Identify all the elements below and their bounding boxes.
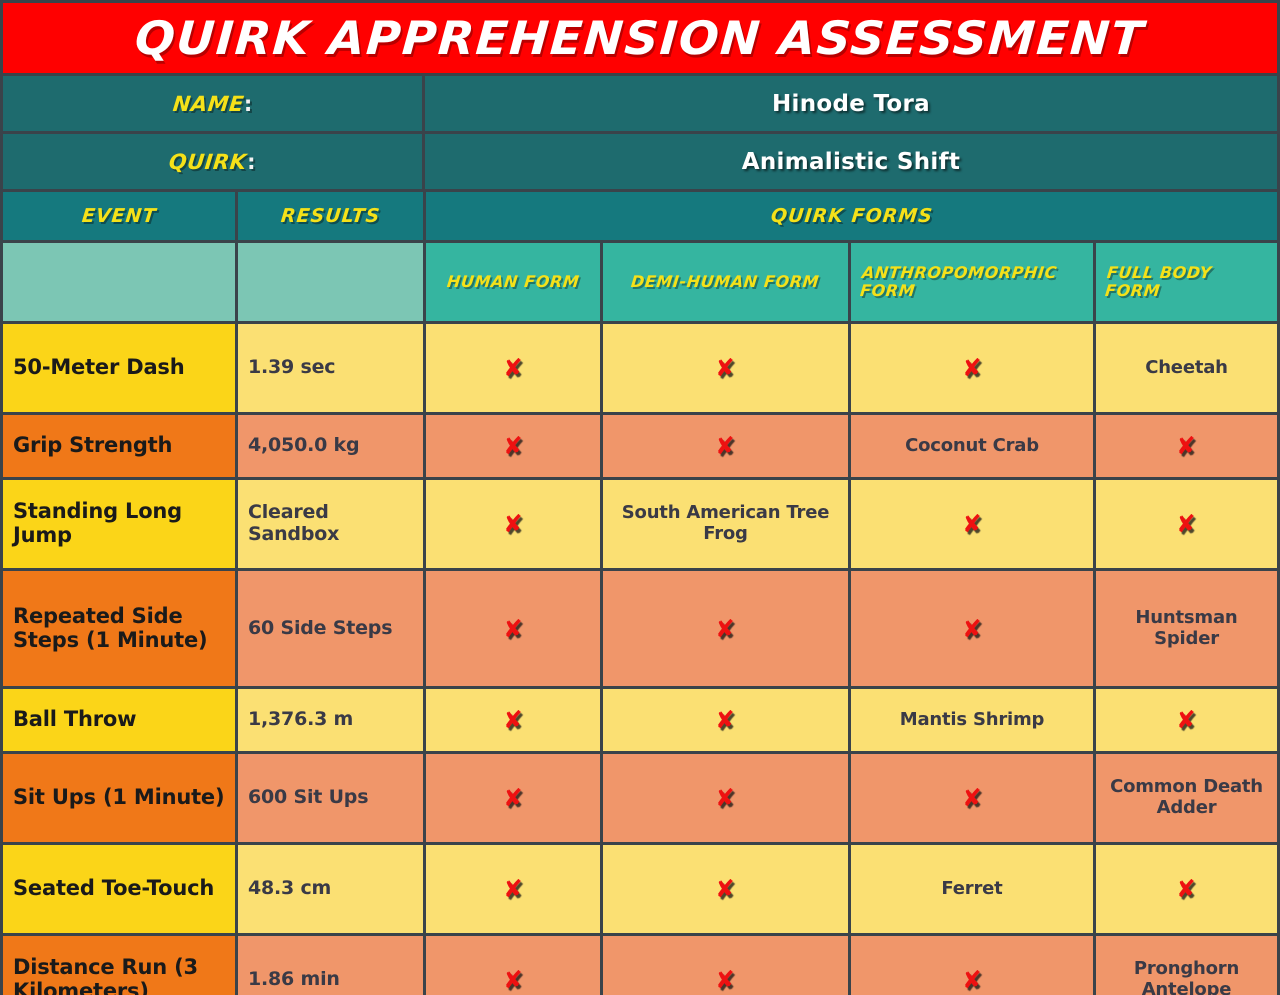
form-cell: ✘ bbox=[426, 689, 600, 751]
cross-icon: ✘ bbox=[715, 433, 736, 458]
form-cell: ✘ bbox=[1096, 480, 1277, 568]
header-event-cell: EVENT bbox=[3, 192, 235, 240]
form-animal-label: Coconut Crab bbox=[861, 436, 1083, 457]
event-cell: Seated Toe-Touch bbox=[3, 845, 235, 933]
event-cell: 50-Meter Dash bbox=[3, 324, 235, 412]
form-cell: ✘ bbox=[851, 754, 1093, 842]
event-label: Seated Toe-Touch bbox=[13, 877, 214, 901]
form-animal-label: Ferret bbox=[861, 879, 1083, 900]
cross-icon: ✘ bbox=[715, 355, 736, 380]
event-label: Ball Throw bbox=[13, 708, 136, 732]
quirk-label-cell: QUIRK: bbox=[3, 134, 422, 189]
quirk-colon: : bbox=[247, 150, 255, 174]
form-cell: Pronghorn Antelope bbox=[1096, 936, 1277, 995]
subheader-blank-results bbox=[238, 243, 423, 321]
result-value: 1.39 sec bbox=[248, 357, 335, 379]
form-cell: Common Death Adder bbox=[1096, 754, 1277, 842]
cross-icon: ✘ bbox=[715, 785, 736, 810]
form-cell: ✘ bbox=[1096, 415, 1277, 477]
name-label-cell: NAME: bbox=[3, 76, 422, 131]
result-value: 1,376.3 m bbox=[248, 709, 353, 731]
name-label: NAME bbox=[171, 92, 245, 116]
header-results: RESULTS bbox=[280, 205, 382, 227]
form-cell: ✘ bbox=[426, 571, 600, 686]
result-cell: 600 Sit Ups bbox=[238, 754, 423, 842]
name-row: NAME: Hinode Tora bbox=[3, 76, 1277, 131]
form-cell: ✘ bbox=[603, 415, 848, 477]
form-cell: ✘ bbox=[603, 845, 848, 933]
form-cell: ✘ bbox=[426, 754, 600, 842]
form-cell: ✘ bbox=[851, 324, 1093, 412]
subheader-full-body-form-label: FULL BODY FORM bbox=[1104, 264, 1269, 301]
cross-icon: ✘ bbox=[502, 616, 523, 641]
form-animal-label: Pronghorn Antelope bbox=[1106, 959, 1267, 995]
form-cell: Ferret bbox=[851, 845, 1093, 933]
form-cell: ✘ bbox=[603, 571, 848, 686]
header-quirk-forms: QUIRK FORMS bbox=[769, 205, 933, 227]
form-cell: ✘ bbox=[426, 936, 600, 995]
form-cell: Cheetah bbox=[1096, 324, 1277, 412]
table-row: Sit Ups (1 Minute)600 Sit Ups✘✘✘Common D… bbox=[3, 754, 1277, 842]
assessment-table: NAME: Hinode Tora QUIRK: Animalistic Shi… bbox=[3, 73, 1277, 995]
form-animal-label: Mantis Shrimp bbox=[861, 710, 1083, 731]
cross-icon: ✘ bbox=[715, 876, 736, 901]
event-label: Standing Long Jump bbox=[13, 500, 225, 547]
cross-icon: ✘ bbox=[502, 876, 523, 901]
table-row: Distance Run (3 Kilometers)1.86 min✘✘✘Pr… bbox=[3, 936, 1277, 995]
cross-icon: ✘ bbox=[961, 785, 982, 810]
name-value-cell: Hinode Tora bbox=[425, 76, 1277, 131]
result-value: 4,050.0 kg bbox=[248, 435, 359, 457]
cross-icon: ✘ bbox=[1176, 876, 1197, 901]
result-value: 1.86 min bbox=[248, 969, 340, 991]
form-cell: ✘ bbox=[603, 936, 848, 995]
name-colon: : bbox=[244, 92, 252, 116]
result-cell: 1,376.3 m bbox=[238, 689, 423, 751]
cross-icon: ✘ bbox=[502, 433, 523, 458]
form-cell: ✘ bbox=[426, 845, 600, 933]
cross-icon: ✘ bbox=[961, 355, 982, 380]
result-cell: 60 Side Steps bbox=[238, 571, 423, 686]
subheader-demi-human-form-label: DEMI-HUMAN FORM bbox=[630, 273, 820, 291]
result-cell: Cleared Sandbox bbox=[238, 480, 423, 568]
form-animal-label: Huntsman Spider bbox=[1106, 608, 1267, 649]
event-label: Repeated Side Steps (1 Minute) bbox=[13, 605, 225, 652]
cross-icon: ✘ bbox=[502, 785, 523, 810]
table-row: Standing Long JumpCleared Sandbox✘South … bbox=[3, 480, 1277, 568]
cross-icon: ✘ bbox=[1176, 433, 1197, 458]
form-animal-label: Cheetah bbox=[1106, 358, 1267, 379]
form-cell: South American Tree Frog bbox=[603, 480, 848, 568]
cross-icon: ✘ bbox=[1176, 707, 1197, 732]
header-quirk-forms-cell: QUIRK FORMS bbox=[426, 192, 1277, 240]
form-subheader-row: HUMAN FORM DEMI-HUMAN FORM ANTHROPOMORPH… bbox=[3, 243, 1277, 321]
cross-icon: ✘ bbox=[961, 616, 982, 641]
table-row: Seated Toe-Touch48.3 cm✘✘Ferret✘ bbox=[3, 845, 1277, 933]
result-value: 48.3 cm bbox=[248, 878, 331, 900]
form-cell: Coconut Crab bbox=[851, 415, 1093, 477]
subheader-anthropomorphic-form-label: ANTHROPOMORPHIC FORM bbox=[859, 264, 1085, 301]
cross-icon: ✘ bbox=[502, 707, 523, 732]
cross-icon: ✘ bbox=[715, 707, 736, 732]
cross-icon: ✘ bbox=[502, 967, 523, 992]
cross-icon: ✘ bbox=[1176, 511, 1197, 536]
cross-icon: ✘ bbox=[961, 511, 982, 536]
cross-icon: ✘ bbox=[502, 511, 523, 536]
cross-icon: ✘ bbox=[715, 967, 736, 992]
cross-icon: ✘ bbox=[715, 616, 736, 641]
event-cell: Ball Throw bbox=[3, 689, 235, 751]
subheader-full-body-form: FULL BODY FORM bbox=[1096, 243, 1277, 321]
form-cell: Mantis Shrimp bbox=[851, 689, 1093, 751]
form-cell: ✘ bbox=[426, 415, 600, 477]
cross-icon: ✘ bbox=[961, 967, 982, 992]
form-cell: Huntsman Spider bbox=[1096, 571, 1277, 686]
quirk-value-cell: Animalistic Shift bbox=[425, 134, 1277, 189]
event-label: Sit Ups (1 Minute) bbox=[13, 786, 224, 810]
subheader-anthropomorphic-form: ANTHROPOMORPHIC FORM bbox=[851, 243, 1093, 321]
table-row: 50-Meter Dash1.39 sec✘✘✘Cheetah bbox=[3, 324, 1277, 412]
result-cell: 1.86 min bbox=[238, 936, 423, 995]
header-event: EVENT bbox=[81, 205, 158, 227]
form-cell: ✘ bbox=[426, 480, 600, 568]
event-label: 50-Meter Dash bbox=[13, 356, 184, 380]
table-row: Ball Throw1,376.3 m✘✘Mantis Shrimp✘ bbox=[3, 689, 1277, 751]
form-cell: ✘ bbox=[603, 754, 848, 842]
subheader-human-form: HUMAN FORM bbox=[426, 243, 600, 321]
form-cell: ✘ bbox=[851, 936, 1093, 995]
form-animal-label: South American Tree Frog bbox=[613, 503, 838, 544]
quirk-row: QUIRK: Animalistic Shift bbox=[3, 134, 1277, 189]
form-animal-label: Common Death Adder bbox=[1106, 777, 1267, 818]
quirk-label: QUIRK bbox=[168, 150, 248, 174]
form-cell: ✘ bbox=[1096, 689, 1277, 751]
table-row: Grip Strength4,050.0 kg✘✘Coconut Crab✘ bbox=[3, 415, 1277, 477]
result-cell: 4,050.0 kg bbox=[238, 415, 423, 477]
form-cell: ✘ bbox=[851, 571, 1093, 686]
table-row: Repeated Side Steps (1 Minute)60 Side St… bbox=[3, 571, 1277, 686]
quirk-value: Animalistic Shift bbox=[742, 149, 960, 175]
title-banner: QUIRK APPREHENSION ASSESSMENT bbox=[3, 3, 1277, 73]
form-cell: ✘ bbox=[851, 480, 1093, 568]
name-value: Hinode Tora bbox=[772, 91, 930, 117]
result-value: 60 Side Steps bbox=[248, 618, 392, 640]
event-label: Distance Run (3 Kilometers) bbox=[13, 956, 225, 995]
event-cell: Distance Run (3 Kilometers) bbox=[3, 936, 235, 995]
form-cell: ✘ bbox=[426, 324, 600, 412]
event-cell: Repeated Side Steps (1 Minute) bbox=[3, 571, 235, 686]
event-cell: Sit Ups (1 Minute) bbox=[3, 754, 235, 842]
column-header-row: EVENT RESULTS QUIRK FORMS bbox=[3, 192, 1277, 240]
result-cell: 48.3 cm bbox=[238, 845, 423, 933]
form-cell: ✘ bbox=[603, 324, 848, 412]
result-value: Cleared Sandbox bbox=[248, 502, 413, 546]
header-results-cell: RESULTS bbox=[238, 192, 423, 240]
subheader-human-form-label: HUMAN FORM bbox=[446, 273, 580, 291]
form-cell: ✘ bbox=[1096, 845, 1277, 933]
form-cell: ✘ bbox=[603, 689, 848, 751]
event-cell: Grip Strength bbox=[3, 415, 235, 477]
page-title: QUIRK APPREHENSION ASSESSMENT bbox=[134, 15, 1147, 61]
event-cell: Standing Long Jump bbox=[3, 480, 235, 568]
subheader-blank-event bbox=[3, 243, 235, 321]
cross-icon: ✘ bbox=[502, 355, 523, 380]
result-value: 600 Sit Ups bbox=[248, 787, 368, 809]
subheader-demi-human-form: DEMI-HUMAN FORM bbox=[603, 243, 848, 321]
assessment-sheet: QUIRK APPREHENSION ASSESSMENT NAME: Hino… bbox=[0, 0, 1280, 995]
result-cell: 1.39 sec bbox=[238, 324, 423, 412]
event-label: Grip Strength bbox=[13, 434, 172, 458]
